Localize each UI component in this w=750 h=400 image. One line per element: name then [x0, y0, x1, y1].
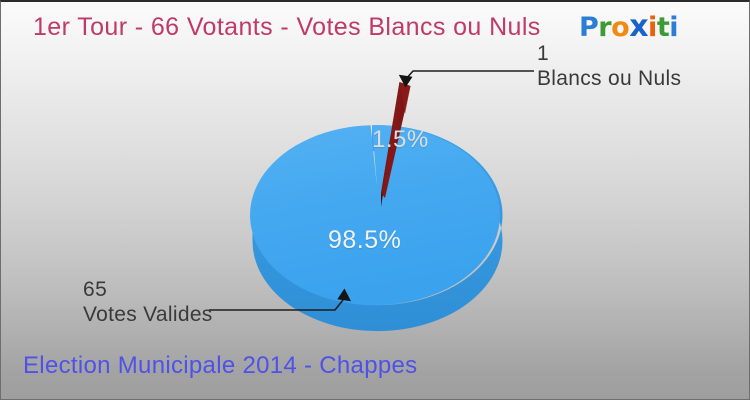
leader-arrow-blancs [399, 75, 413, 88]
logo-letter-x: x [629, 12, 648, 42]
leader-line-blancs [405, 71, 534, 80]
footer-title: Election Municipale 2014 - Chappes [23, 352, 417, 380]
chart-title: 1er Tour - 66 Votants - Votes Blancs ou … [33, 13, 541, 42]
chart-canvas: 1er Tour - 66 Votants - Votes Blancs ou … [0, 0, 750, 400]
logo-letter-i1: i [648, 13, 657, 43]
leader-arrow-valides [337, 289, 351, 302]
logo-letter-t: t [657, 13, 669, 43]
callout-blancs-ou-nuls: 1 Blancs ou Nuls [537, 41, 681, 92]
callout-blancs-count: 1 [537, 41, 681, 66]
logo-letter-i2: i [669, 13, 678, 43]
slice-percent-blancs: 1.5% [372, 126, 429, 154]
logo-letter-o: o [611, 13, 629, 43]
proxiti-logo[interactable]: Proxiti [579, 12, 678, 43]
callout-votes-valides: 65 Votes Valides [83, 277, 213, 328]
callout-blancs-label: Blancs ou Nuls [537, 66, 681, 92]
slice-percent-valides: 98.5% [328, 226, 401, 255]
callout-valides-label: Votes Valides [83, 302, 213, 328]
logo-letter-r: r [598, 13, 611, 43]
leader-line-valides [209, 300, 343, 310]
callout-valides-count: 65 [83, 277, 213, 302]
logo-letter-p: P [579, 13, 598, 43]
